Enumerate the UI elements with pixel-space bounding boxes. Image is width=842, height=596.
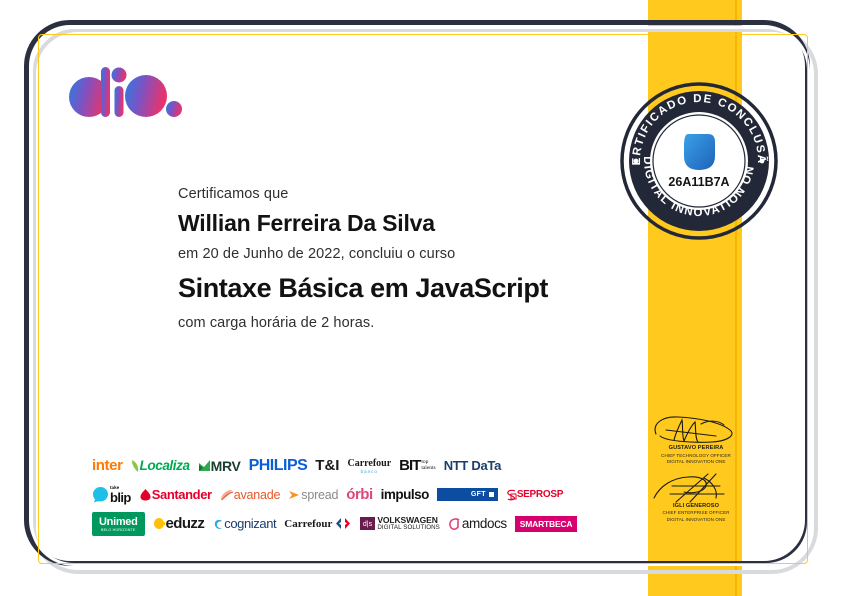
partner-logo-cognizant: cognizant (212, 513, 276, 535)
partner-logo-localiza: Localiza (131, 455, 190, 477)
partner-logo-orbi: órbi (346, 484, 372, 506)
partner-logo-volkswagen: d|s VOLKSWAGEN DIGITAL SOLUTIONS (360, 513, 440, 535)
signature-role2-2: DIGITAL INNOVATION ONE (645, 517, 747, 524)
localiza-mark (131, 459, 140, 473)
partner-logo-avanade: avanade (220, 484, 281, 506)
signature-mark-2 (646, 472, 746, 506)
signature-block-2: IGLI GENEROSO CHIEF ENTERPRISE OFFICER D… (645, 472, 747, 524)
date-line: em 20 de Junho de 2022, concluiu o curso (178, 246, 608, 262)
carrefour-mark (334, 517, 352, 530)
partner-row-3: Unimed BELO HORIZONTE eduzz cognizant Ca… (92, 510, 612, 537)
santander-mark (139, 488, 152, 501)
seal-code: 26A11B7A (668, 175, 729, 189)
signature-name-2: IGLI GENEROSO (645, 503, 747, 511)
partner-logo-impulso: impulso (381, 484, 429, 506)
svg-text:d|s: d|s (363, 521, 373, 528)
certificate-text-block: Certificamos que Willian Ferreira Da Sil… (178, 186, 608, 331)
partner-logo-blip: take blip (92, 484, 131, 506)
partner-row-2: take blip Santander avanade (92, 481, 612, 508)
avanade-mark (220, 489, 234, 501)
signature-mark-1 (646, 414, 746, 448)
recipient-name: Willian Ferreira Da Silva (178, 210, 608, 237)
gft-square (489, 492, 494, 497)
partner-logo-carrefour-banco: Carrefour banco (347, 455, 391, 477)
partner-logo-ntt-data: NTT DaTa (444, 455, 501, 477)
partner-logo-amdocs: amdocs (448, 513, 507, 535)
partner-logo-tqi: T&I (315, 455, 339, 477)
eduzz-mark (153, 517, 166, 530)
amdocs-mark (448, 517, 462, 531)
signature-area: GUSTAVO PEREIRA CHIEF TECHNOLOGY OFFICER… (645, 414, 747, 530)
partner-logo-spread: spread (288, 484, 338, 506)
partner-logo-bit-top-talents: BIT top talents (399, 455, 436, 477)
partner-logo-philips: PHILIPS (249, 455, 308, 477)
workload-line: com carga horária de 2 horas. (178, 315, 608, 331)
blip-mark (92, 486, 109, 503)
partner-logo-smartbeca: SMARTBECA (515, 513, 578, 535)
certificate-page: CERTIFICADO DE CONCLUSÃO DIGITAL INNOVAT… (0, 0, 842, 596)
signature-name-1: GUSTAVO PEREIRA (645, 445, 747, 453)
partner-logos: inter Localiza MRV PHILIPS T&I (92, 452, 612, 539)
partner-logo-seprosp: SEPROSP (506, 484, 563, 506)
volkswagen-mark: d|s (360, 517, 375, 530)
partner-logo-carrefour: Carrefour (284, 513, 352, 535)
partner-logo-mrv: MRV (198, 455, 241, 477)
partner-row-1: inter Localiza MRV PHILIPS T&I (92, 452, 612, 479)
completion-seal: CERTIFICADO DE CONCLUSÃO DIGITAL INNOVAT… (620, 82, 778, 240)
intro-line: Certificamos que (178, 186, 608, 202)
partner-logo-gft: GFT (437, 484, 498, 506)
course-title: Sintaxe Básica em JavaScript (178, 273, 608, 304)
signature-role1-2: CHIEF ENTERPRISE OFFICER (645, 510, 747, 517)
signature-block-1: GUSTAVO PEREIRA CHIEF TECHNOLOGY OFFICER… (645, 414, 747, 466)
seprosp-mark (506, 489, 517, 501)
mrv-mark (198, 459, 211, 472)
partner-logo-inter: inter (92, 455, 123, 477)
cognizant-mark (212, 518, 224, 530)
partner-logo-unimed: Unimed BELO HORIZONTE (92, 513, 145, 535)
signature-role2-1: DIGITAL INNOVATION ONE (645, 459, 747, 466)
partner-logo-eduzz: eduzz (153, 513, 205, 535)
spread-mark (288, 489, 301, 501)
signature-role1-1: CHIEF TECHNOLOGY OFFICER (645, 453, 747, 460)
partner-logo-santander: Santander (139, 484, 212, 506)
dio-logo (64, 64, 182, 120)
